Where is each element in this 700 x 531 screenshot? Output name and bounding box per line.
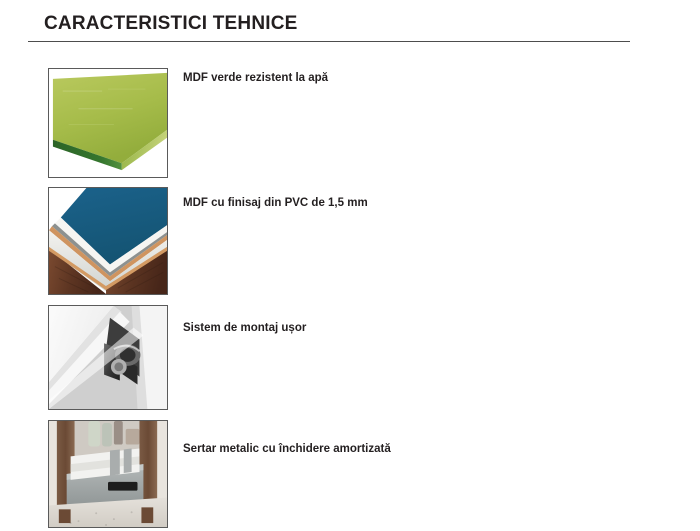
title-divider [28, 41, 630, 42]
feature-label: Sertar metalic cu închidere amortizată [183, 443, 391, 455]
soft-close-metal-drawer-photo [48, 420, 168, 528]
feature-label: Sistem de montaj ușor [183, 322, 306, 334]
cabinet-mounting-bracket-photo [48, 305, 168, 410]
layered-pvc-finished-mdf-panel-photo [48, 187, 168, 295]
feature-label: MDF cu finisaj din PVC de 1,5 mm [183, 197, 368, 209]
page-title: CARACTERISTICI TEHNICE [44, 13, 298, 35]
green-water-resistant-mdf-board-photo [48, 68, 168, 178]
feature-label: MDF verde rezistent la apă [183, 72, 328, 84]
